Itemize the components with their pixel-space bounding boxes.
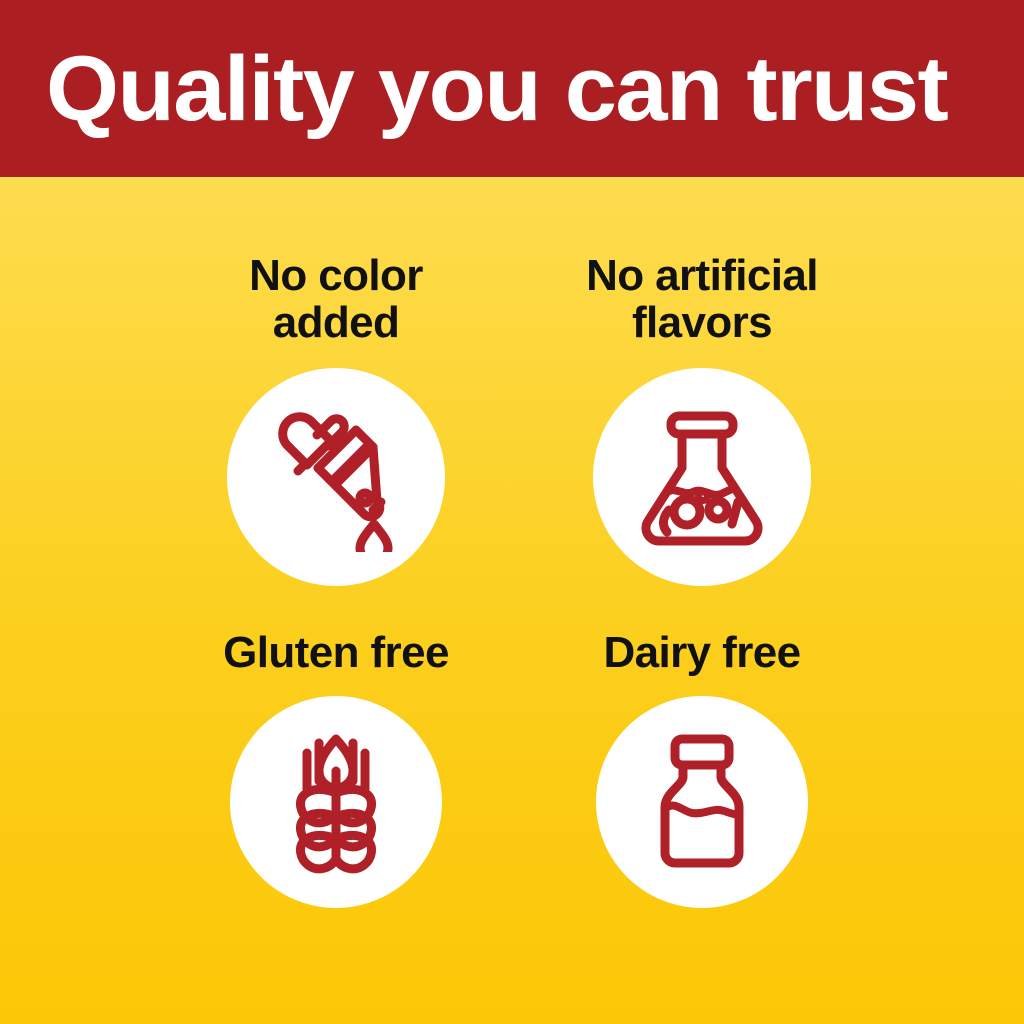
- badge-icon-circle: [230, 696, 442, 908]
- badge-grid: No color added: [0, 177, 1024, 1024]
- dropper-icon: [261, 402, 411, 552]
- badge-label-dairy-free: Dairy free: [603, 629, 800, 676]
- flask-icon: [627, 402, 777, 552]
- milk-bottle-icon: [627, 727, 777, 877]
- badge-label-no-artificial-flavors: No artificial flavors: [586, 252, 818, 346]
- badge-label-no-color-added: No color added: [249, 252, 423, 346]
- badge-icon-circle: [596, 696, 808, 908]
- badge-label-gluten-free: Gluten free: [223, 629, 449, 676]
- page-title: Quality you can trust: [46, 43, 947, 135]
- badge-icon-circle: [227, 368, 445, 586]
- quality-badges-poster: Quality you can trust No color added: [0, 0, 1024, 1024]
- wheat-icon: [261, 727, 411, 877]
- badge-icon-circle: [593, 368, 811, 586]
- header-banner: Quality you can trust: [0, 0, 1024, 177]
- badge-gluten-free: Gluten free: [146, 629, 526, 908]
- badge-no-artificial-flavors: No artificial flavors: [512, 252, 892, 586]
- badge-dairy-free: Dairy free: [512, 629, 892, 908]
- badge-no-color-added: No color added: [146, 252, 526, 586]
